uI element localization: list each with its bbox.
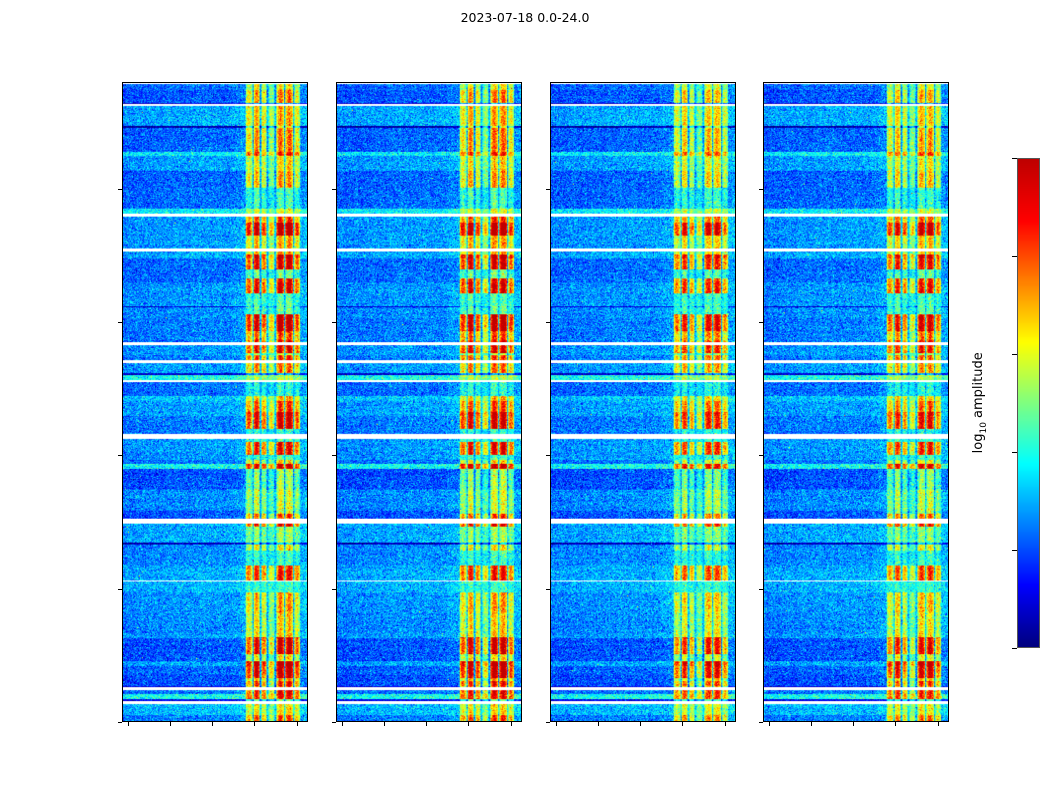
ytick-mark xyxy=(759,589,763,590)
xtick-mark xyxy=(297,722,298,726)
xtick-mark xyxy=(426,722,427,726)
colorbar-label: log10 amplitude xyxy=(971,343,989,463)
xtick-mark xyxy=(254,722,255,726)
colorbar-tick-mark xyxy=(1012,550,1017,551)
xtick-mark xyxy=(212,722,213,726)
xtick-mark xyxy=(640,722,641,726)
figure-canvas: 2023-07-18 0.0-24.0 log10 amplitude xyxy=(0,0,1050,800)
ytick-mark xyxy=(118,189,122,190)
figure-suptitle: 2023-07-18 0.0-24.0 xyxy=(0,10,1050,25)
ytick-mark xyxy=(759,455,763,456)
waterfall-axes-yy[interactable] xyxy=(336,82,522,722)
xtick-mark xyxy=(938,722,939,726)
waterfall-axes-yx[interactable] xyxy=(763,82,949,722)
ytick-mark xyxy=(759,189,763,190)
waterfall-axes-xx[interactable] xyxy=(122,82,308,722)
colorbar-tick-mark xyxy=(1012,648,1017,649)
ytick-mark xyxy=(118,722,122,723)
ytick-mark xyxy=(332,455,336,456)
xtick-mark xyxy=(598,722,599,726)
ytick-mark xyxy=(546,589,550,590)
ytick-mark xyxy=(546,189,550,190)
colorbar[interactable] xyxy=(1017,158,1040,648)
colorbar-tick-mark xyxy=(1012,354,1017,355)
colorbar-gradient xyxy=(1018,159,1039,647)
xtick-mark xyxy=(342,722,343,726)
ytick-mark xyxy=(546,322,550,323)
waterfall-image-yx xyxy=(764,83,948,721)
ytick-mark xyxy=(332,722,336,723)
colorbar-tick-mark xyxy=(1012,256,1017,257)
ytick-mark xyxy=(759,722,763,723)
ytick-mark xyxy=(118,322,122,323)
waterfall-image-yy xyxy=(337,83,521,721)
ytick-mark xyxy=(118,589,122,590)
xtick-mark xyxy=(511,722,512,726)
waterfall-image-xy xyxy=(551,83,735,721)
xtick-mark xyxy=(682,722,683,726)
xtick-mark xyxy=(556,722,557,726)
colorbar-tick-mark xyxy=(1012,452,1017,453)
waterfall-axes-xy[interactable] xyxy=(550,82,736,722)
ytick-mark xyxy=(118,455,122,456)
colorbar-tick-mark xyxy=(1012,158,1017,159)
xtick-mark xyxy=(811,722,812,726)
xtick-mark xyxy=(769,722,770,726)
ytick-mark xyxy=(546,722,550,723)
xtick-mark xyxy=(128,722,129,726)
ytick-mark xyxy=(332,189,336,190)
xtick-mark xyxy=(384,722,385,726)
xtick-mark xyxy=(725,722,726,726)
ytick-mark xyxy=(332,589,336,590)
xtick-mark xyxy=(468,722,469,726)
xtick-mark xyxy=(895,722,896,726)
ytick-mark xyxy=(759,322,763,323)
ytick-mark xyxy=(546,455,550,456)
xtick-mark xyxy=(853,722,854,726)
waterfall-image-xx xyxy=(123,83,307,721)
ytick-mark xyxy=(332,322,336,323)
xtick-mark xyxy=(170,722,171,726)
